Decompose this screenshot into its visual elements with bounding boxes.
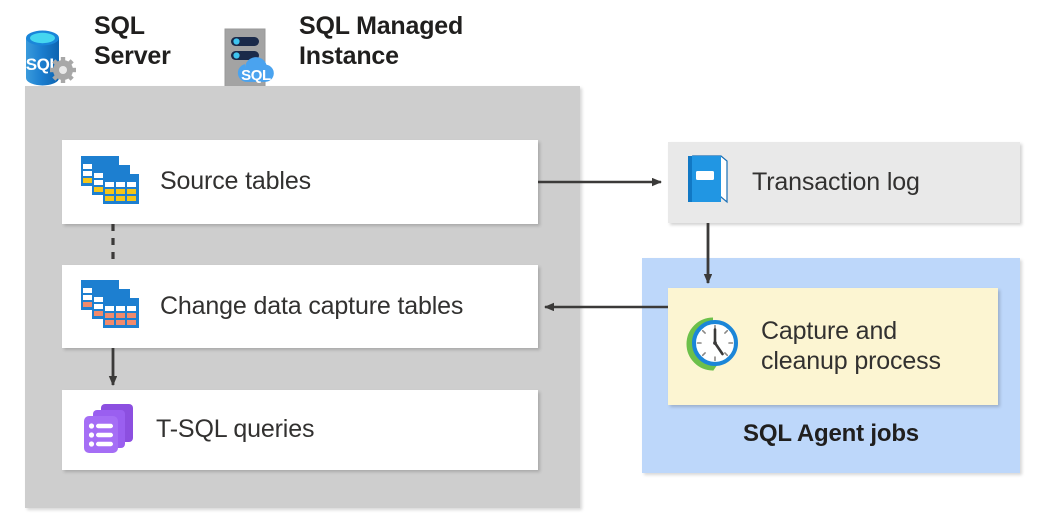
transaction-log-label: Transaction log xyxy=(752,168,920,198)
sql-managed-instance-icon: SQL xyxy=(219,24,289,92)
t-sql-queries-box[interactable]: T-SQL queries xyxy=(62,390,538,470)
capture-and-cleanup-process-box[interactable]: Capture and cleanup process xyxy=(668,288,998,405)
source-tables-icon xyxy=(79,154,141,211)
source-tables-box[interactable]: Source tables xyxy=(62,140,538,224)
svg-text:SQL: SQL xyxy=(241,67,271,84)
sql-agent-jobs-caption: SQL Agent jobs xyxy=(642,420,1020,448)
change-data-capture-tables-label: Change data capture tables xyxy=(160,292,463,322)
capture-and-cleanup-process-label: Capture and cleanup process xyxy=(761,317,941,376)
legend-label-sql-managed-instance: SQL Managed Instance xyxy=(299,12,463,71)
t-sql-queries-label: T-SQL queries xyxy=(156,415,314,445)
legend-sql-server: SQL SQL Server xyxy=(14,24,171,92)
change-data-capture-tables-box[interactable]: Change data capture tables xyxy=(62,265,538,348)
legend-label-sql-server: SQL Server xyxy=(94,12,171,71)
transaction-log-box[interactable]: Transaction log xyxy=(668,142,1020,223)
change-data-capture-tables-icon xyxy=(79,278,141,335)
sql-server-icon: SQL xyxy=(14,24,82,92)
book-icon xyxy=(683,153,733,212)
clock-refresh-icon xyxy=(684,315,742,378)
legend-sql-managed-instance: SQL SQL Managed Instance xyxy=(219,24,463,92)
source-tables-label: Source tables xyxy=(160,167,311,197)
diagram-canvas: SQL SQL Server xyxy=(0,0,1044,527)
t-sql-queries-icon xyxy=(81,401,137,460)
